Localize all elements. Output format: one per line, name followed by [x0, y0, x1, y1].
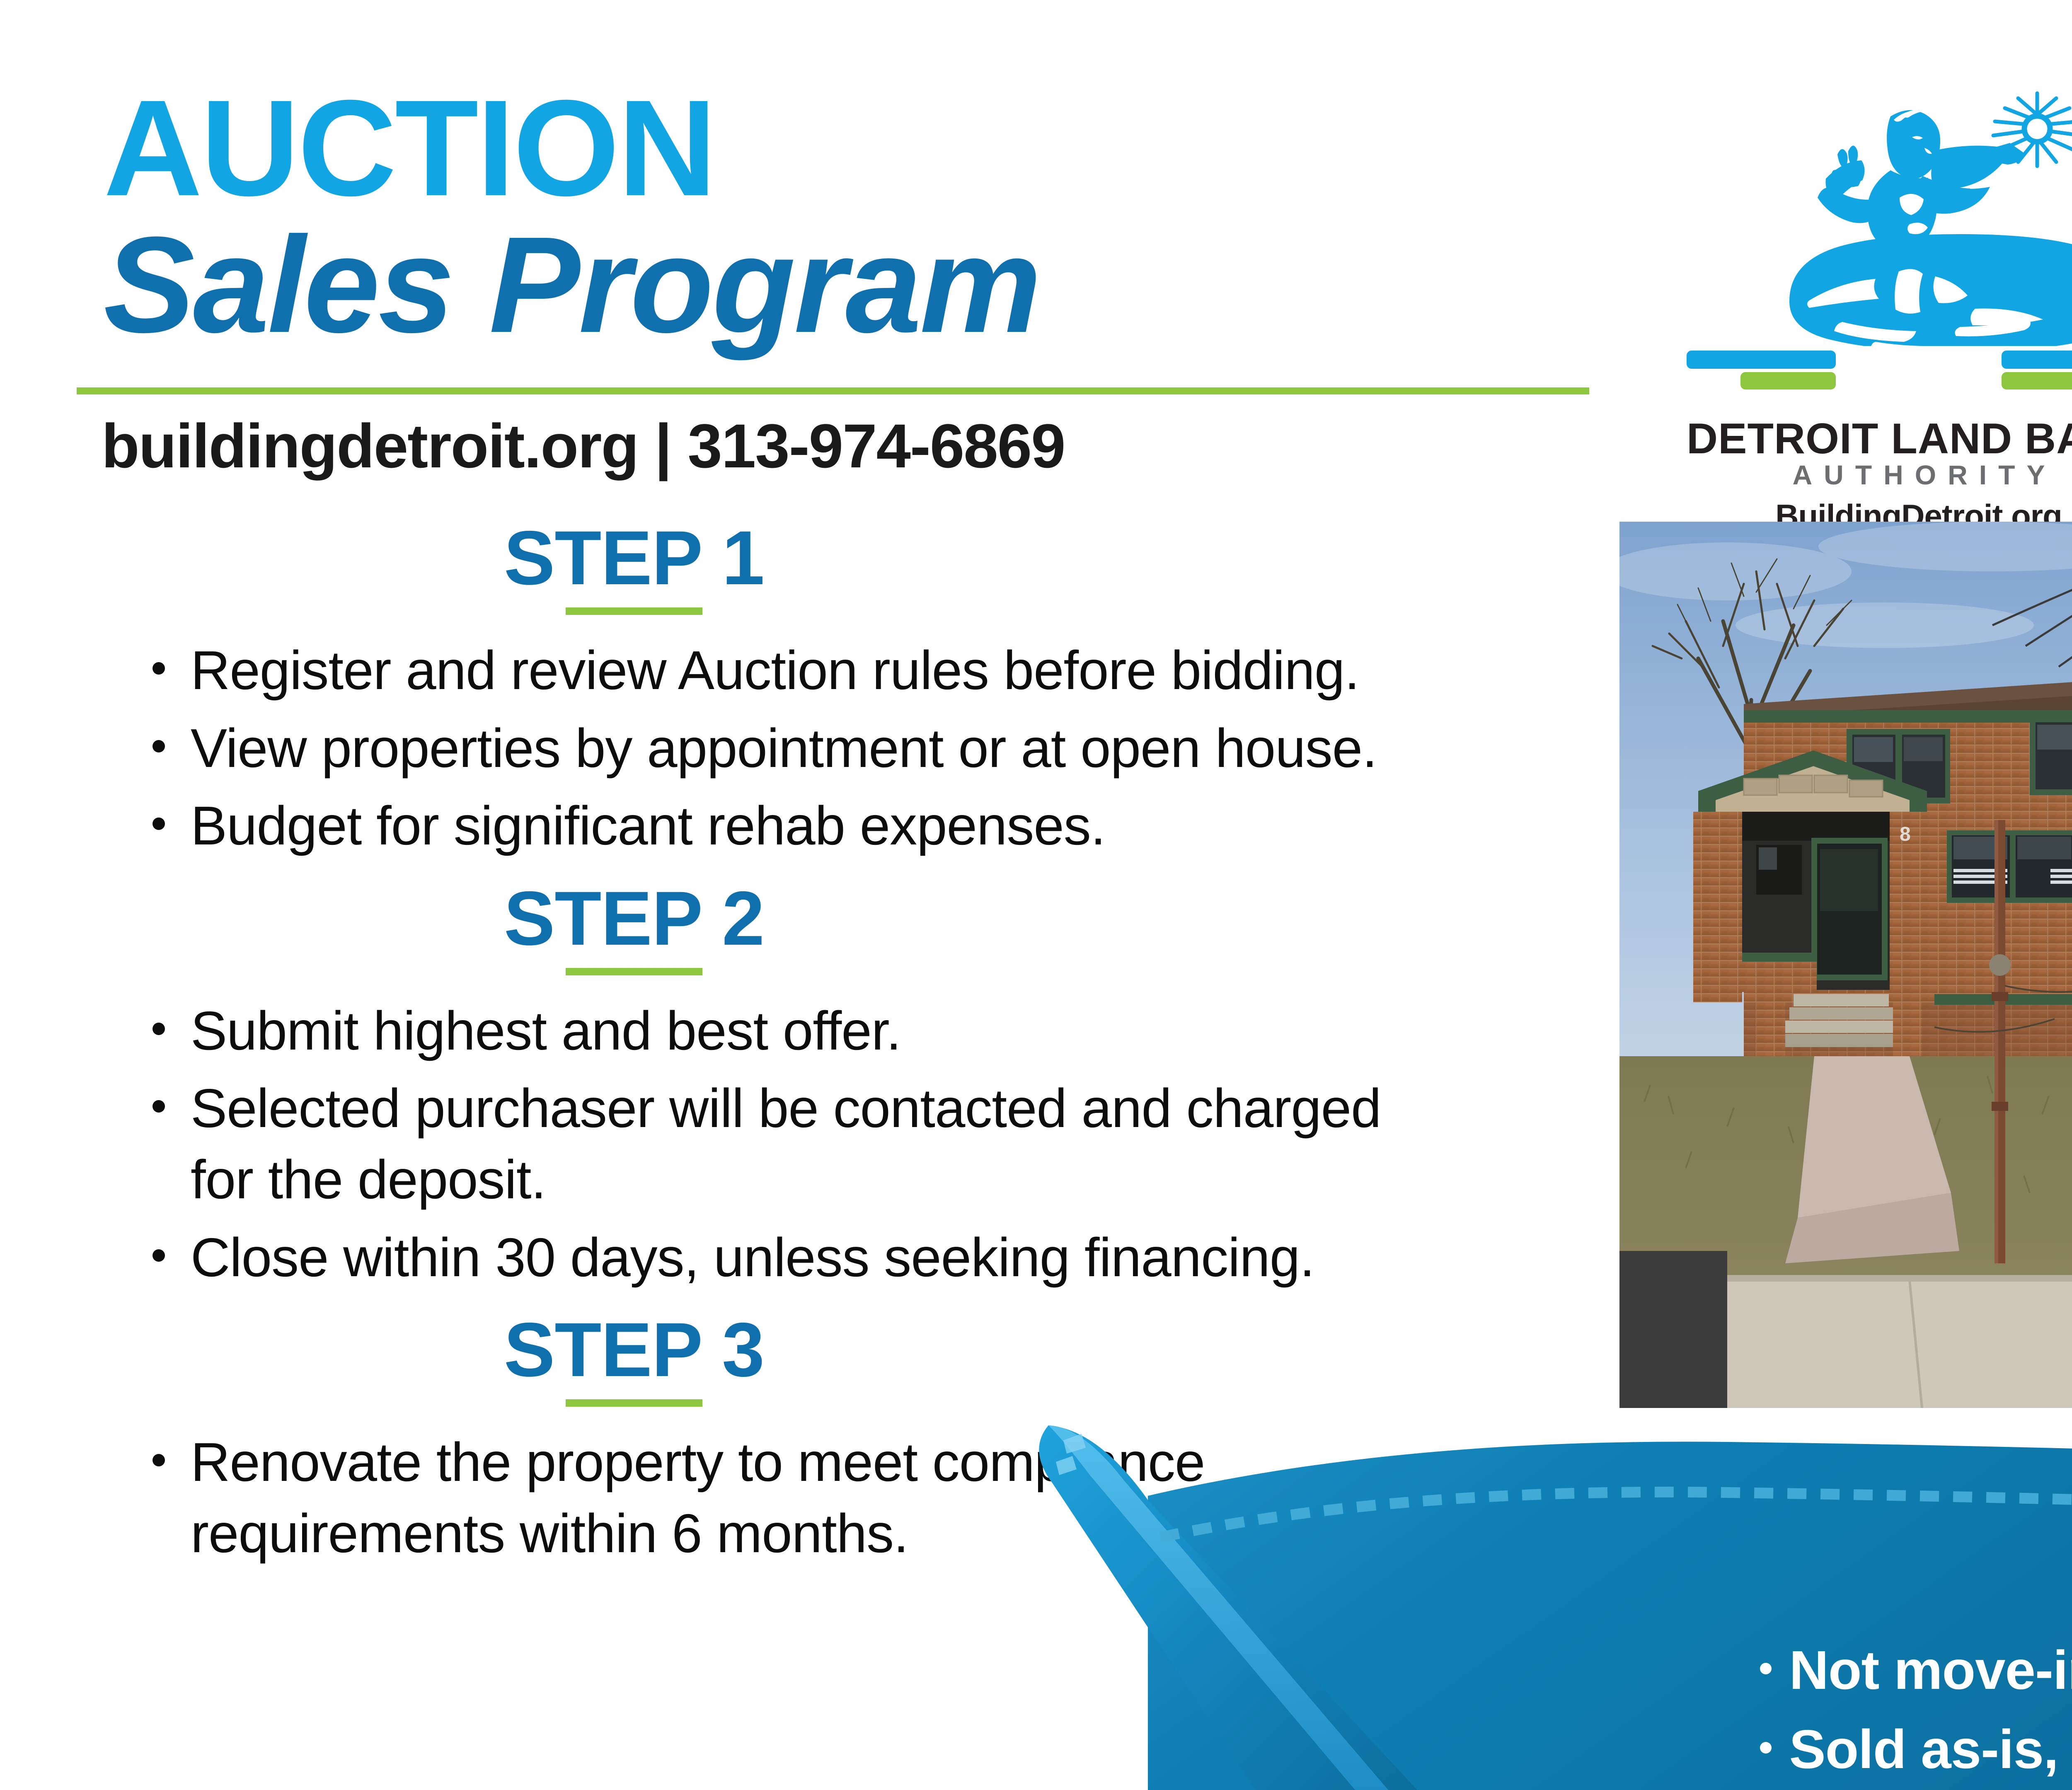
svg-text:8: 8 — [1900, 823, 1911, 845]
list-item: Close within 30 days, unless seeking fin… — [137, 1222, 1442, 1293]
step-1-bullets: Register and review Auction rules before… — [137, 635, 1442, 861]
step-2-bullets: Submit highest and best offer. Selected … — [137, 995, 1442, 1293]
list-item: View properties by appointment or at ope… — [137, 713, 1442, 784]
logo-subtitle: AUTHORITY — [1687, 459, 2072, 491]
step-2-header: STEP 2 — [427, 880, 841, 975]
logo-bar-green-left — [1740, 372, 1836, 389]
page-title-auction: AUCTION — [104, 83, 1595, 213]
detroit-land-bank-logo: DETROIT LAND BANK AUTHORITY BuildingDetr… — [1687, 89, 2072, 437]
logo-accent-bars — [1687, 348, 2072, 392]
step-3-header: STEP 3 — [427, 1312, 841, 1407]
logo-bar-blue-left — [1687, 351, 1836, 369]
property-photo: 8 — [1619, 522, 2072, 1408]
title-divider-rule — [77, 387, 1589, 394]
list-item: Not move-in ready — [1750, 1630, 2072, 1710]
page-title-sales-program: Sales Program — [104, 213, 1595, 357]
step-1-title: STEP 1 — [427, 520, 841, 597]
list-item: Selected purchaser will be contacted and… — [137, 1073, 1442, 1215]
step-3-bullets: Renovate the property to meet compliance… — [137, 1427, 1442, 1569]
steps-container: STEP 1 Register and review Auction rules… — [137, 520, 1442, 1588]
step-1-underline — [566, 607, 702, 615]
ribbon-bullet-list: Not move-in ready Sold as-is, where-is — [1750, 1630, 2072, 1789]
step-2: STEP 2 Submit highest and best offer. Se… — [137, 880, 1442, 1293]
step-1-header: STEP 1 — [427, 520, 841, 615]
poster-root: AUCTION Sales Program buildingdetroit.or… — [0, 0, 2072, 1790]
step-1: STEP 1 Register and review Auction rules… — [137, 520, 1442, 861]
spirit-of-detroit-icon — [1745, 89, 2072, 346]
list-item: Budget for significant rehab expenses. — [137, 790, 1442, 861]
step-3-underline — [566, 1399, 702, 1407]
logo-bar-blue-right — [2002, 351, 2072, 369]
logo-bar-green-right — [2002, 372, 2072, 389]
step-2-underline — [566, 968, 702, 975]
list-item: Renovate the property to meet compliance… — [137, 1427, 1442, 1569]
logo-name: DETROIT LAND BANK — [1687, 414, 2072, 464]
title-block: AUCTION Sales Program — [104, 83, 1595, 356]
step-3: STEP 3 Renovate the property to meet com… — [137, 1312, 1442, 1569]
list-item: Sold as-is, where-is — [1750, 1710, 2072, 1789]
contact-line[interactable]: buildingdetroit.org | 313-974-6869 — [102, 410, 1065, 482]
step-3-title: STEP 3 — [427, 1312, 841, 1388]
step-2-title: STEP 2 — [427, 880, 841, 957]
list-item: Submit highest and best offer. — [137, 995, 1442, 1067]
list-item: Register and review Auction rules before… — [137, 635, 1442, 706]
